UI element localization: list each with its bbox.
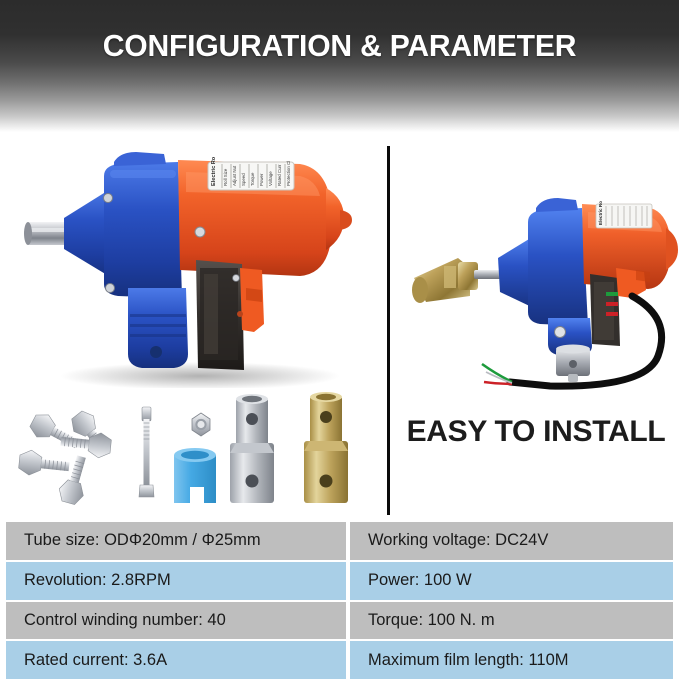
- gearbox-body-right: [528, 208, 588, 326]
- spec-cell-working-voltage: Working voltage: DC24V: [350, 522, 673, 560]
- svg-text:Roll Size: Roll Size: [223, 168, 228, 186]
- silver-steel-coupler: [230, 394, 274, 503]
- accessories-illustration: [4, 385, 376, 513]
- product-infographic: CONFIGURATION & PARAMETER: [0, 0, 679, 679]
- spec-cell-revolution: Revolution: 2.8RPM: [6, 562, 346, 600]
- motor-end-cap: [340, 210, 352, 230]
- spec-cell-control-winding-number: Control winding number: 40: [6, 602, 346, 640]
- svg-text:Torque: Torque: [250, 172, 255, 186]
- svg-text:Electric Ro: Electric Ro: [598, 201, 603, 225]
- table-row: Rated current: 3.6A Maximum film length:…: [0, 641, 679, 679]
- table-row: Tube size: ODΦ20mm / Φ25mm Working volta…: [0, 522, 679, 560]
- brass-coupler: [412, 258, 478, 303]
- spec-table: Tube size: ODΦ20mm / Φ25mm Working volta…: [0, 522, 679, 679]
- table-row: Control winding number: 40 Torque: 100 N…: [0, 602, 679, 640]
- output-shaft: [26, 222, 70, 245]
- svg-text:Protection Cl: Protection Cl: [286, 161, 291, 186]
- svg-text:Rated Curr: Rated Curr: [277, 164, 282, 186]
- spec-cell-power: Power: 100 W: [350, 562, 673, 600]
- accessories-group: [4, 385, 376, 513]
- hex-bolt-group: [18, 407, 116, 506]
- page-title: CONFIGURATION & PARAMETER: [10, 28, 669, 64]
- spec-cell-maximum-film-length: Maximum film length: 110M: [350, 641, 673, 679]
- product-photo-right: Electric Ro: [400, 150, 679, 395]
- header-banner: CONFIGURATION & PARAMETER: [0, 0, 679, 132]
- motor-side-view-illustration: Electric Ro Roll Size Adjust Nut Speed T…: [0, 118, 380, 388]
- motor-spec-label: Electric Ro Roll Size Adjust Nut Speed T…: [208, 156, 294, 190]
- svg-text:Power: Power: [259, 173, 264, 186]
- svg-text:Speed: Speed: [241, 173, 246, 186]
- table-row: Revolution: 2.8RPM Power: 100 W: [0, 562, 679, 600]
- spec-cell-torque: Torque: 100 N. m: [350, 602, 673, 640]
- hex-nut: [192, 413, 210, 436]
- silver-coupler-bottom: [556, 345, 590, 383]
- motor-spec-label-right: Electric Ro: [596, 201, 652, 228]
- motor-with-coupler-illustration: Electric Ro: [400, 150, 679, 395]
- svg-text:Electric Ro: Electric Ro: [211, 156, 217, 186]
- long-hex-bolt: [139, 407, 154, 497]
- blue-plastic-bushing: [174, 448, 216, 503]
- brass-steel-coupler: [304, 392, 348, 503]
- panel-divider: [387, 146, 390, 515]
- spec-cell-rated-current: Rated current: 3.6A: [6, 641, 346, 679]
- product-photo-left: Electric Ro Roll Size Adjust Nut Speed T…: [0, 118, 380, 388]
- easy-to-install-callout: EASY TO INSTALL: [398, 408, 674, 456]
- gearbox-body: [104, 162, 182, 298]
- svg-text:Adjust Nut: Adjust Nut: [232, 165, 237, 186]
- svg-text:Voltage: Voltage: [268, 171, 273, 186]
- spec-cell-tube-size: Tube size: ODΦ20mm / Φ25mm: [6, 522, 346, 560]
